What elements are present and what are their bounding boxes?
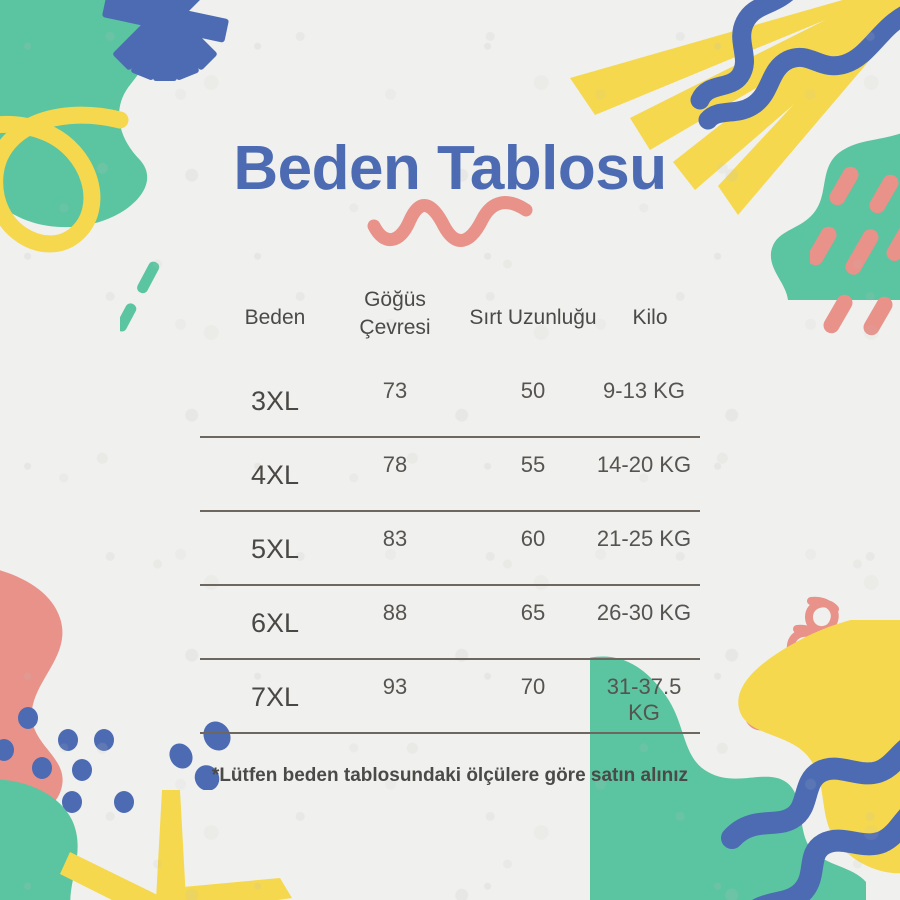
table-header-row: Beden Göğüs Çevresi Sırt Uzunluğu Kilo [200, 282, 700, 364]
column-header-gogus-cevresi: Göğüs Çevresi [340, 286, 450, 343]
table-row: 3XL 73 50 9-13 KG [200, 364, 700, 438]
column-header-beden: Beden [220, 304, 330, 332]
column-header-gogus-line1: Göğüs [340, 286, 450, 314]
cell-kilo: 26-30 KG [588, 600, 700, 626]
cell-gogus-cevresi: 93 [340, 674, 450, 700]
column-header-sirt-uzunlugu: Sırt Uzunluğu [448, 304, 618, 332]
page-title: Beden Tablosu [0, 133, 900, 204]
table-row: 4XL 78 55 14-20 KG [200, 438, 700, 512]
column-header-gogus-line2: Çevresi [340, 314, 450, 342]
cell-kilo: 21-25 KG [588, 526, 700, 552]
table-row: 5XL 83 60 21-25 KG [200, 512, 700, 586]
purchase-note: *Lütfen beden tablosundaki ölçülere göre… [150, 756, 750, 796]
cell-beden: 4XL [220, 460, 330, 491]
cell-beden: 3XL [220, 386, 330, 417]
table-row: 6XL 88 65 26-30 KG [200, 586, 700, 660]
column-header-kilo: Kilo [600, 304, 700, 332]
cell-beden: 6XL [220, 608, 330, 639]
cell-gogus-cevresi: 88 [340, 600, 450, 626]
cell-gogus-cevresi: 83 [340, 526, 450, 552]
cell-kilo: 14-20 KG [588, 452, 700, 478]
cell-kilo: 31-37.5 KG [588, 674, 700, 726]
cell-gogus-cevresi: 73 [340, 378, 450, 404]
table-row: 7XL 93 70 31-37.5 KG [200, 660, 700, 734]
cell-gogus-cevresi: 78 [340, 452, 450, 478]
size-chart-poster: Beden Tablosu Beden Göğüs Çevresi Sırt U… [0, 0, 900, 900]
title-underline-wave [366, 196, 536, 248]
size-table: Beden Göğüs Çevresi Sırt Uzunluğu Kilo 3… [200, 282, 700, 734]
cell-kilo: 9-13 KG [588, 378, 700, 404]
cell-beden: 5XL [220, 534, 330, 565]
cell-beden: 7XL [220, 682, 330, 713]
